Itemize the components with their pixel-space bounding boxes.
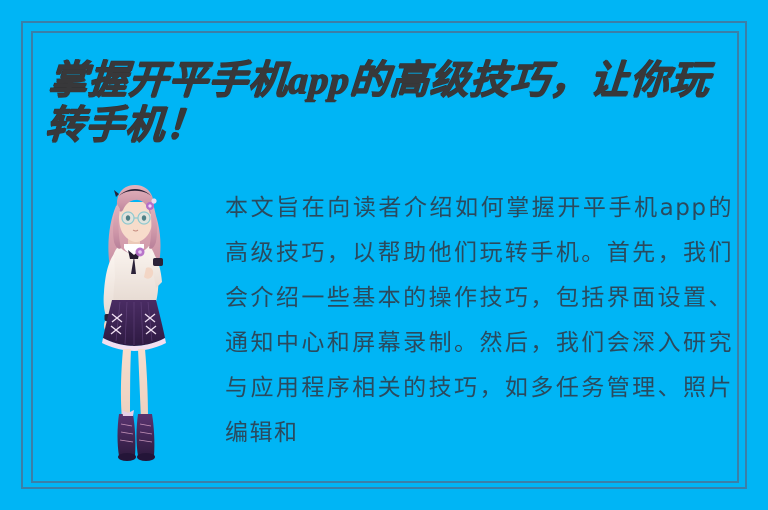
right-leg-icon (138, 349, 148, 420)
headband-bow-icon (114, 190, 119, 197)
body-block: 本文旨在向读者介绍如何掌握开平手机app的高级技巧，以帮助他们玩转手机。首先，我… (225, 186, 733, 456)
left-boot-icon (118, 414, 136, 459)
right-eye-icon (142, 215, 146, 221)
wrist-cuff-right-icon (153, 258, 163, 266)
character-illustration (86, 176, 182, 476)
right-boot-icon (137, 414, 155, 459)
article-body-text: 本文旨在向读者介绍如何掌握开平手机app的高级技巧，以帮助他们玩转手机。首先，我… (225, 186, 733, 456)
page-title: 掌握开平手机app的高级技巧，让你玩转手机！ (44, 58, 740, 148)
left-leg-icon (121, 349, 131, 420)
title-block: 掌握开平手机app的高级技巧，让你玩转手机！ (50, 58, 740, 148)
article-banner: 掌握开平手机app的高级技巧，让你玩转手机！ (0, 0, 768, 510)
left-eye-icon (126, 215, 130, 221)
